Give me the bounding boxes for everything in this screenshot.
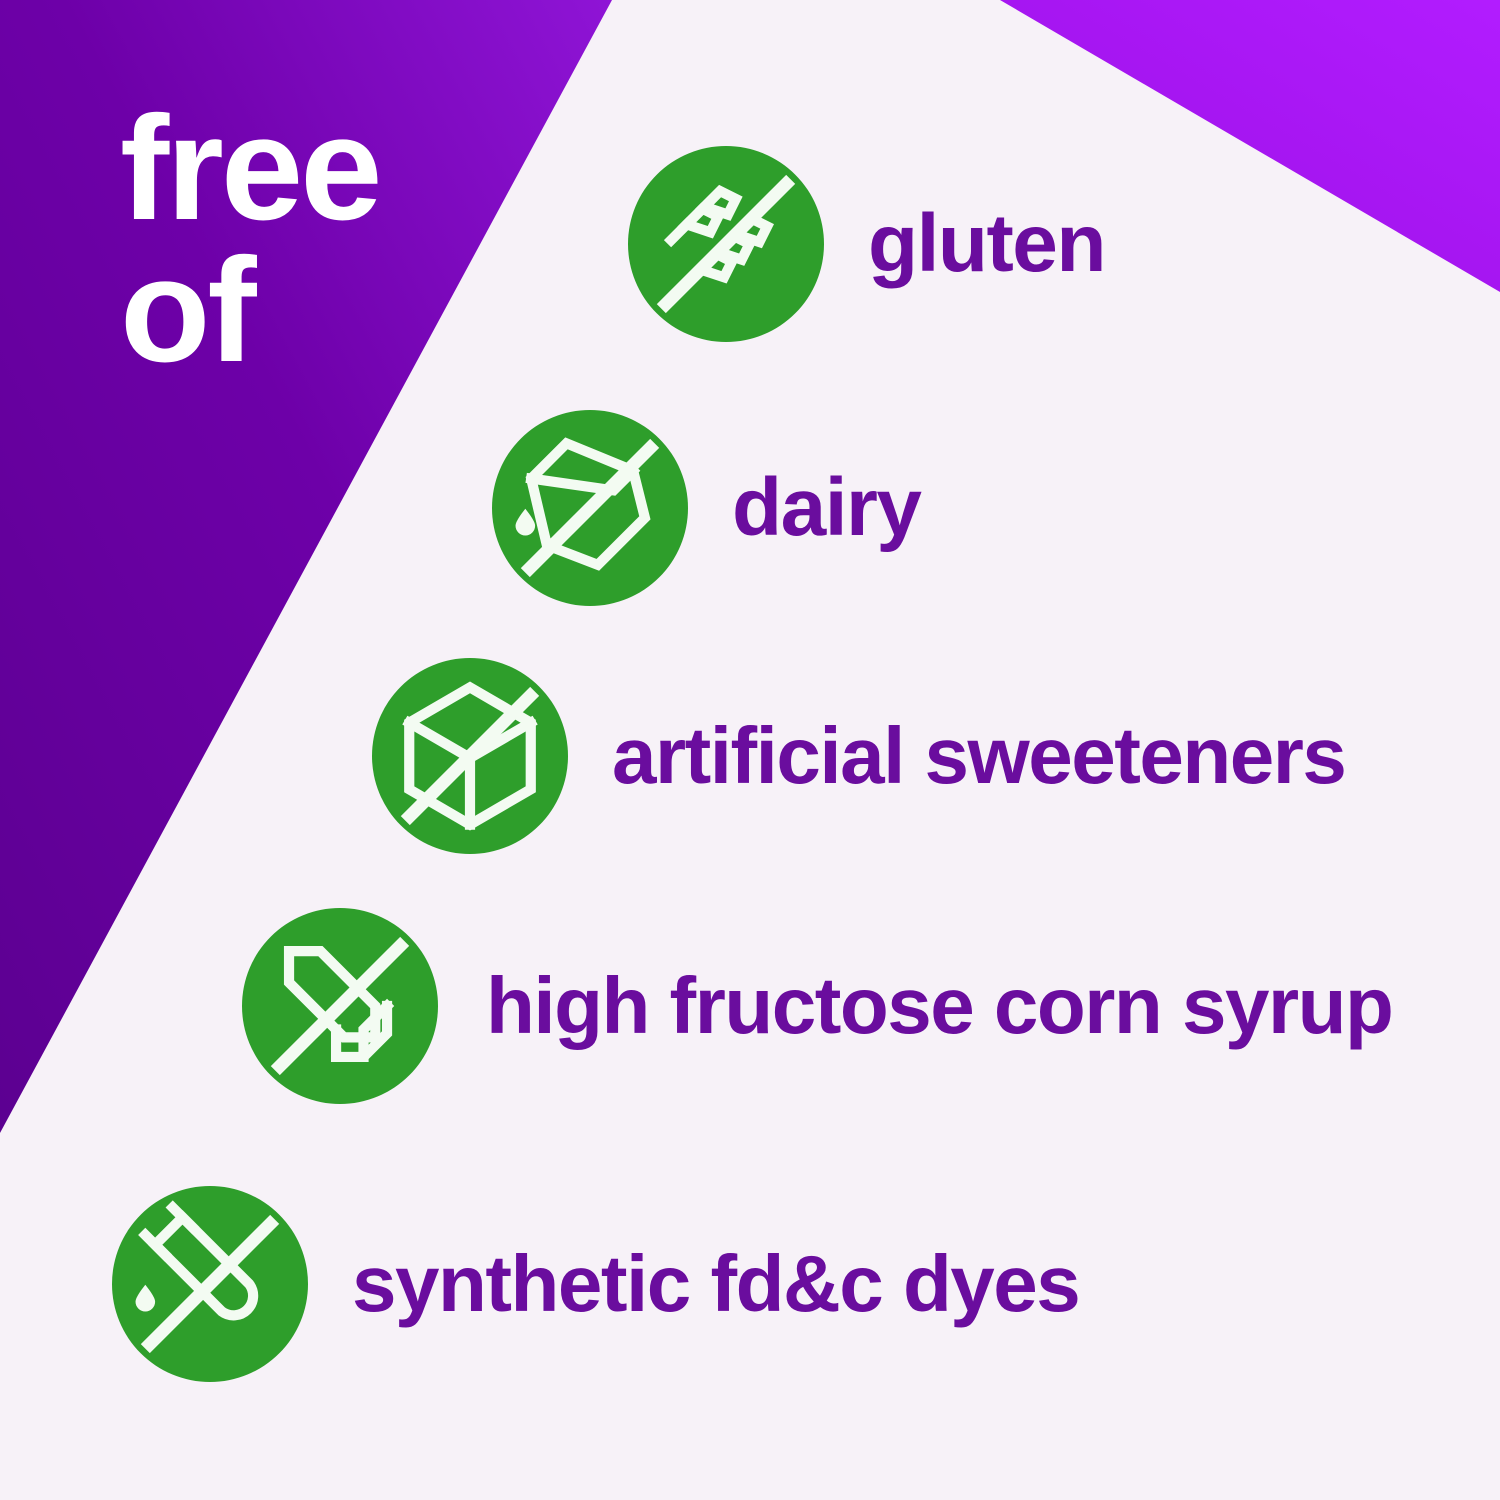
claim-label-gluten: gluten: [868, 203, 1105, 285]
page-title: free of: [120, 98, 380, 382]
claim-label-synthetic-dyes: synthetic fd&c dyes: [352, 1244, 1079, 1324]
no-sugar-cube-icon: [372, 658, 568, 854]
headline-line-of: of: [120, 240, 380, 382]
headline-line-free: free: [120, 98, 380, 240]
no-sugar-cube-badge: [372, 658, 568, 854]
claim-row-hfcs: high fructose corn syrup: [242, 908, 1392, 1104]
no-test-tube-icon: [112, 1186, 308, 1382]
no-wheat-badge: [628, 146, 824, 342]
claim-label-dairy: dairy: [732, 467, 921, 549]
no-corn-icon: [242, 908, 438, 1104]
claim-row-synthetic-dyes: synthetic fd&c dyes: [112, 1186, 1079, 1382]
claim-label-artificial-sweeteners: artificial sweeteners: [612, 716, 1345, 796]
claim-row-dairy: dairy: [492, 410, 921, 606]
claim-row-artificial-sweeteners: artificial sweeteners: [372, 658, 1345, 854]
claim-row-gluten: gluten: [628, 146, 1105, 342]
no-test-tube-badge: [112, 1186, 308, 1382]
no-corn-badge: [242, 908, 438, 1104]
claim-label-hfcs: high fructose corn syrup: [486, 966, 1392, 1046]
no-wheat-icon: [628, 146, 824, 342]
no-milk-carton-badge: [492, 410, 688, 606]
free-of-claims-graphic: free of: [0, 0, 1500, 1500]
no-milk-carton-icon: [492, 410, 688, 606]
